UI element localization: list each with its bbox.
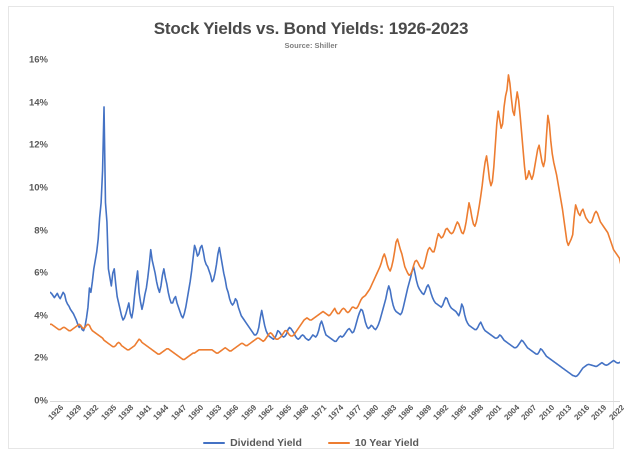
x-axis-tick-label: 1998 (467, 403, 486, 422)
x-axis-tick-label: 1977 (344, 403, 363, 422)
legend-color-swatch (203, 442, 225, 445)
x-axis-tick-label: 1989 (414, 403, 433, 422)
y-axis-tick-label: 10% (14, 182, 48, 193)
y-axis-tick-label: 14% (14, 97, 48, 108)
chart-title: Stock Yields vs. Bond Yields: 1926-2023 (9, 19, 613, 39)
x-axis-tick-label: 1980 (362, 403, 381, 422)
x-axis-tick-label: 1986 (397, 403, 416, 422)
x-axis-tick-label: 1992 (432, 403, 451, 422)
x-axis-tick-label: 1935 (99, 403, 118, 422)
y-axis-tick-label: 2% (14, 353, 48, 364)
x-axis-tick-label: 1995 (449, 403, 468, 422)
x-axis-tick-label: 2007 (519, 403, 538, 422)
y-axis: 0%2%4%6%8%10%12%14%16% (9, 7, 48, 464)
x-axis-tick-label: 1956 (222, 403, 241, 422)
x-axis-tick-label: 1953 (204, 403, 223, 422)
plot-area (50, 60, 620, 401)
x-axis-tick-label: 1941 (134, 403, 153, 422)
chart-container: Stock Yields vs. Bond Yields: 1926-2023 … (8, 6, 614, 449)
legend-item[interactable]: 10 Year Yield (328, 437, 419, 449)
x-axis-tick-label: 2010 (537, 403, 556, 422)
series-plot (50, 60, 620, 401)
y-axis-tick-label: 0% (14, 396, 48, 407)
x-axis-tick-label: 1983 (379, 403, 398, 422)
x-axis-tick-label: 1938 (116, 403, 135, 422)
chart-legend: Dividend Yield10 Year Yield (9, 437, 613, 449)
y-axis-tick-label: 12% (14, 140, 48, 151)
x-axis-tick-label: 2016 (572, 403, 591, 422)
y-axis-tick-label: 4% (14, 310, 48, 321)
chart-source-subtitle: Source: Shiller (9, 41, 613, 50)
x-axis-tick-label: 1968 (292, 403, 311, 422)
x-axis-tick-label: 1944 (152, 403, 171, 422)
legend-item[interactable]: Dividend Yield (203, 437, 302, 449)
x-axis-line (50, 401, 620, 402)
y-axis-tick-label: 16% (14, 55, 48, 66)
x-axis-tick-label: 2004 (502, 403, 521, 422)
x-axis-tick-label: 1974 (327, 403, 346, 422)
x-axis-tick-label: 2019 (590, 403, 609, 422)
legend-label: Dividend Yield (230, 437, 302, 449)
x-axis-tick-label: 1950 (187, 403, 206, 422)
x-axis-tick-label: 1971 (309, 403, 328, 422)
legend-label: 10 Year Yield (355, 437, 419, 449)
y-axis-tick-label: 8% (14, 225, 48, 236)
x-axis-tick-label: 1959 (239, 403, 258, 422)
x-axis-tick-label: 1947 (169, 403, 188, 422)
series-line (50, 107, 620, 377)
x-axis-tick-label: 1962 (257, 403, 276, 422)
x-axis-tick-label: 2013 (555, 403, 574, 422)
legend-color-swatch (328, 442, 350, 445)
x-axis-tick-label: 2001 (484, 403, 503, 422)
x-axis-tick-label: 2022 (607, 403, 624, 422)
x-axis-tick-label: 1965 (274, 403, 293, 422)
series-line (50, 75, 620, 387)
x-axis-tick-label: 1932 (81, 403, 100, 422)
x-axis-tick-label: 1929 (64, 403, 83, 422)
x-axis-tick-label: 1926 (46, 403, 65, 422)
y-axis-tick-label: 6% (14, 268, 48, 279)
